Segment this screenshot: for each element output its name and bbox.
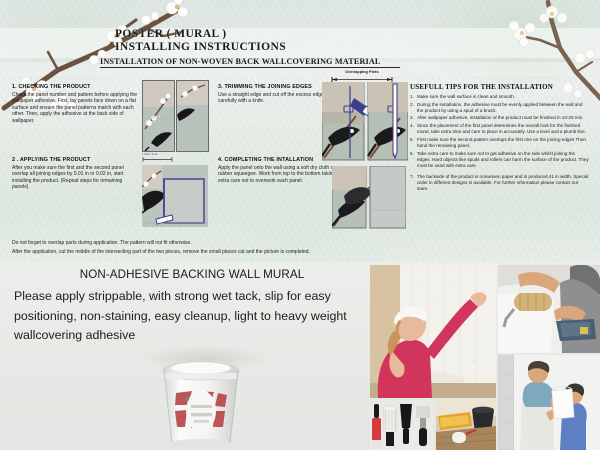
step-4-heading: 4. COMPLETING THE INTALLATION [218, 157, 346, 163]
step-4-body: Apply the panel onto the wall using a so… [218, 165, 346, 184]
title-line-2: INSTALLING INSTRUCTIONS [115, 41, 415, 54]
photo-wallpaper-tools [370, 400, 434, 450]
photo-woman-hanging-wallpaper [370, 265, 496, 398]
step-2-illustration [142, 165, 208, 231]
tip-text: Take extra care to make sure not to get … [417, 151, 589, 168]
photo-man-and-child-hanging-mural [498, 355, 600, 450]
tip-item: 6.Take extra care to make sure not to ge… [410, 151, 590, 169]
tip-number: 6. [410, 151, 414, 157]
tip-item: 7.The backside of the product is nonwove… [410, 174, 590, 192]
photo-wallpaper-tools-art [370, 400, 434, 450]
application-notes: Do not forget to overlap parts during ap… [12, 240, 442, 257]
step-2-applying-the-product: 2 . APPLYING THE PRODUCT After you make … [12, 157, 140, 191]
step-4-artwork [332, 166, 406, 232]
step-1-illustration: PANEL 2 PANEL 1 1 inch / 2 cm [142, 80, 208, 164]
adhesive-bucket [158, 355, 244, 447]
poster-page: POSTER ( MURAL ) INSTALLING INSTRUCTIONS… [0, 0, 600, 450]
scale-bar-icon [142, 157, 208, 162]
step-2-body: After you make sure the first and the se… [12, 165, 140, 191]
photo-wallpapering-kit-art [436, 400, 496, 450]
tip-text: Make sure the wall surface is clean and … [417, 94, 515, 99]
tip-item: 4.Since the placement of the first panel… [410, 123, 590, 135]
tip-number: 2. [410, 102, 414, 108]
useful-tips-block: USEFULL TIPS FOR THE INSTALLATION 1.Make… [410, 83, 590, 194]
promo-body: Please apply strippable, with strong wet… [14, 287, 370, 346]
tips-list: 1.Make sure the wall surface is clean an… [410, 94, 590, 192]
tip-text: First make sure the second pattern overl… [417, 137, 586, 148]
photo-woman-hanging-wallpaper-art [370, 265, 496, 398]
photo-applying-adhesive-roller-art [498, 265, 600, 353]
photo-man-and-child-hanging-mural-art [498, 355, 600, 450]
note-line-1: Do not forget to overlap parts during ap… [12, 240, 442, 247]
tip-number: 3. [410, 115, 414, 121]
overlapping-parts-caption: Overlapping Parts [333, 70, 391, 74]
tip-number: 7. [410, 174, 414, 180]
scale-note: 1 inch / 2 cm [142, 152, 158, 156]
note-line-2: After the application, cut the middle of… [12, 249, 442, 256]
tip-number: 1. [410, 94, 414, 100]
step-3-illustration [322, 82, 408, 162]
panel-1-box: PANEL 1 [176, 80, 209, 152]
panel-2-box: PANEL 2 [142, 80, 175, 152]
title-line-1: POSTER ( MURAL ) [115, 28, 415, 41]
panel-2-label: PANEL 2 [151, 115, 167, 119]
photo-applying-adhesive-roller [498, 265, 600, 353]
step-1-checking-the-product: 1. CHECKING THE PRODUCT Check the panel … [12, 84, 140, 124]
panel-1-artwork [177, 81, 208, 151]
step-4-illustration [332, 166, 406, 232]
tip-number: 5. [410, 137, 414, 143]
poster-title: POSTER ( MURAL ) INSTALLING INSTRUCTIONS [115, 28, 415, 54]
tip-text: Since the placement of the first panel d… [417, 123, 586, 134]
tip-text: The backside of the product is nonwoven … [417, 174, 588, 191]
tip-number: 4. [410, 123, 414, 129]
step-2-heading: 2 . APPLYING THE PRODUCT [12, 157, 140, 163]
step-1-body: Check the panel number and pattern befor… [12, 92, 140, 124]
tip-item: 3.After wallpaper adhesive, installation… [410, 115, 590, 121]
step-2-artwork [142, 165, 208, 231]
promo-block: NON-ADHESIVE BACKING WALL MURAL Please a… [14, 268, 370, 346]
step-4-completing-the-installation: 4. COMPLETING THE INTALLATION Apply the … [218, 157, 346, 184]
tip-item: 2.During the installation, the adhesive … [410, 102, 590, 114]
promo-headline: NON-ADHESIVE BACKING WALL MURAL [14, 268, 370, 281]
tips-heading: USEFULL TIPS FOR THE INSTALLATION [410, 83, 590, 91]
tip-item: 5.First make sure the second pattern ove… [410, 137, 590, 149]
step-3-artwork [322, 82, 408, 162]
tip-item: 1.Make sure the wall surface is clean an… [410, 94, 590, 100]
tip-text: After wallpaper adhesive, installation o… [417, 115, 584, 120]
tip-text: During the installation, the adhesive mu… [417, 102, 582, 113]
step-1-heading: 1. CHECKING THE PRODUCT [12, 84, 140, 90]
poster-subtitle: INSTALLATION OF NON-WOVEN BACK WALLCOVER… [100, 57, 400, 68]
photo-wallpapering-kit [436, 400, 496, 450]
